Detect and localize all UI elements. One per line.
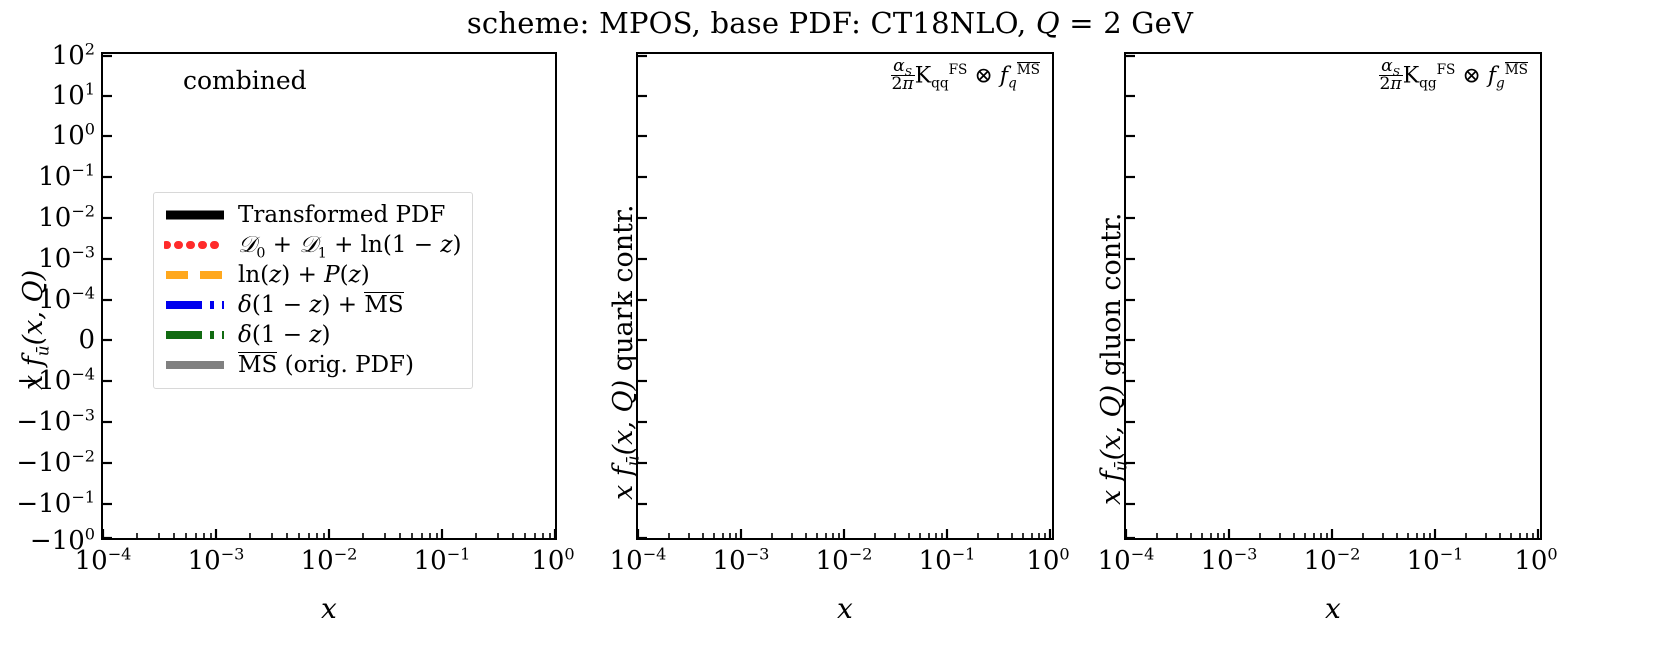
legend-label-delta: δ(1 − z) (238, 322, 330, 348)
xtick-1em3-p1: 10−3 (188, 546, 245, 576)
ytick-neg1em3: −10−3 (16, 407, 95, 437)
suptitle-basepdf-label: base PDF: (711, 6, 862, 40)
xtick-1em4-p1: 10−4 (75, 546, 132, 576)
legend-entry-msbar-orig: MS (orig. PDF) (164, 350, 461, 380)
legend-key-msbar-orig (164, 355, 226, 375)
legend-entry-transformed-pdf: Transformed PDF (164, 200, 461, 230)
panel-combined-corner-label: combined (183, 66, 307, 95)
xtick-1em3-p3: 10−3 (1201, 546, 1258, 576)
ytick-zero: 0 (78, 325, 95, 355)
xtick-1em4-p3: 10−4 (1098, 546, 1155, 576)
ytick-neg1em2: −10−2 (16, 448, 95, 478)
xtick-1em3-p2: 10−3 (713, 546, 770, 576)
figure-suptitle: scheme: MPOS, base PDF: CT18NLO, Q = 2 G… (0, 6, 1660, 40)
panel-gluon-frame (1124, 52, 1542, 540)
xtick-1em2-p2: 10−2 (816, 546, 873, 576)
plot-legend: Transformed PDF 𝒟0 + 𝒟1 + ln(1 − z) ln(z… (153, 192, 473, 389)
panel-combined-ylabel: x fū(x, Q) (18, 270, 49, 390)
panel-gluon-contribution: αS2πKqgFS ⊗ fgMS (1124, 52, 1542, 540)
panel-combined-xlabel: x (321, 592, 337, 625)
xtick-1em1-p3: 10−1 (1407, 546, 1464, 576)
xtick-1e0-p2: 100 (1026, 546, 1069, 576)
panel-gluon-corner-label: αS2πKqgFS ⊗ fgMS (1379, 58, 1529, 94)
legend-entry-delta: δ(1 − z) (164, 320, 461, 350)
legend-key-delta (164, 325, 226, 345)
xtick-1em2-p1: 10−2 (301, 546, 358, 576)
panel-gluon-xlabel: x (1325, 592, 1341, 625)
ytick-1em1: 10−1 (38, 162, 95, 192)
suptitle-q-value: = 2 GeV (1069, 6, 1193, 40)
xtick-1em1-p1: 10−1 (414, 546, 471, 576)
legend-key-plus-distributions (164, 235, 226, 255)
legend-label-msbar-orig: MS (orig. PDF) (238, 352, 414, 378)
legend-key-lnz-pz (164, 265, 226, 285)
suptitle-scheme-label: scheme: (467, 6, 590, 40)
xtick-1em2-p3: 10−2 (1304, 546, 1361, 576)
xtick-1e0-p1: 100 (531, 546, 574, 576)
suptitle-basepdf-value: CT18NLO, (871, 6, 1027, 40)
panel-quark-contribution: αS2πKqqFS ⊗ fqMS (636, 52, 1054, 540)
ytick-1e0: 100 (52, 121, 95, 151)
xtick-1e0-p3: 100 (1514, 546, 1557, 576)
legend-entry-lnz-pz: ln(z) + P(z) (164, 260, 461, 290)
suptitle-scheme-value: MPOS, (599, 6, 701, 40)
legend-entry-plus-distributions: 𝒟0 + 𝒟1 + ln(1 − z) (164, 230, 461, 260)
legend-key-delta-msbar (164, 295, 226, 315)
ytick-1e1: 101 (52, 81, 95, 111)
legend-label-transformed-pdf: Transformed PDF (238, 202, 445, 228)
panel-quark-corner-label: αS2πKqqFS ⊗ fqMS (891, 58, 1041, 94)
panel-quark-frame (636, 52, 1054, 540)
ytick-1em2: 10−2 (38, 203, 95, 233)
legend-entry-delta-msbar: δ(1 − z) + MS (164, 290, 461, 320)
suptitle-q-symbol: Q (1036, 6, 1060, 40)
ytick-1e2: 102 (52, 41, 95, 71)
legend-label-delta-msbar: δ(1 − z) + MS (238, 292, 404, 318)
ytick-neg1em1: −10−1 (16, 489, 95, 519)
legend-key-transformed-pdf (164, 205, 226, 225)
xtick-1em1-p2: 10−1 (919, 546, 976, 576)
figure-canvas: scheme: MPOS, base PDF: CT18NLO, Q = 2 G… (0, 0, 1660, 667)
legend-label-lnz-pz: ln(z) + P(z) (238, 262, 370, 288)
xtick-1em4-p2: 10−4 (610, 546, 667, 576)
legend-label-plus-distributions: 𝒟0 + 𝒟1 + ln(1 − z) (238, 232, 461, 258)
panel-combined: combined (101, 52, 557, 540)
panel-gluon-ylabel: x fū(x, Q) gluon contr. (1096, 213, 1127, 505)
panel-quark-ylabel: x fū(x, Q) quark contr. (608, 204, 639, 500)
panel-quark-xlabel: x (837, 592, 853, 625)
